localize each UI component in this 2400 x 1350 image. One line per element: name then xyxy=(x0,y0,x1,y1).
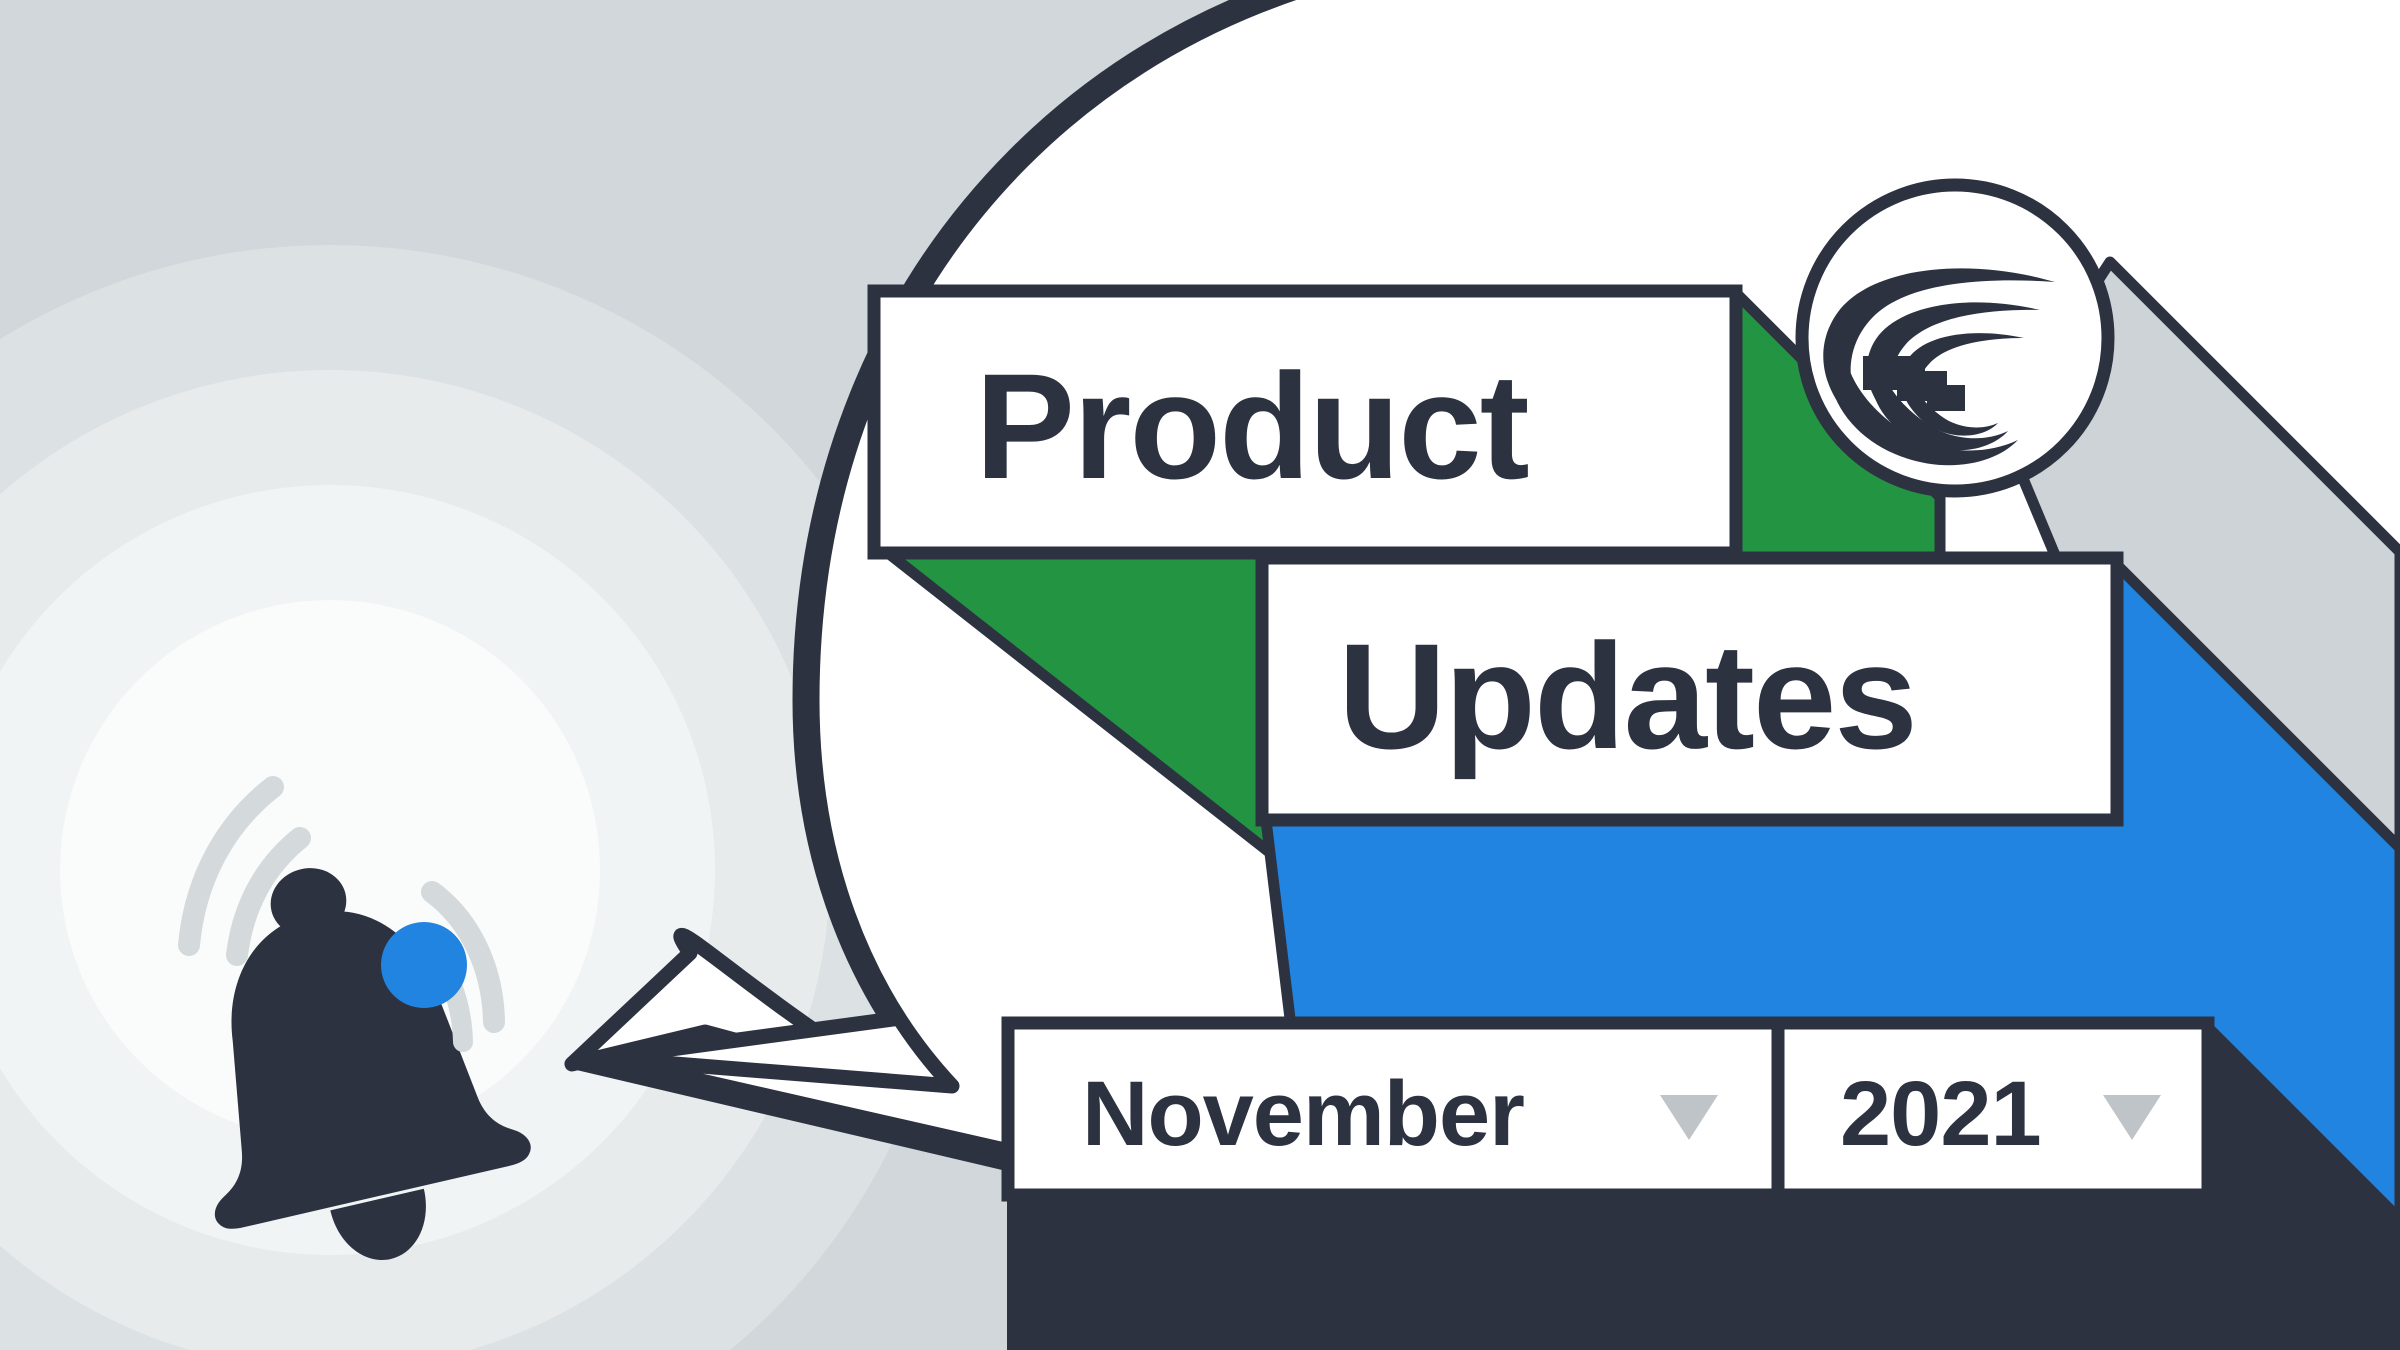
banner-artboard: Product Updates November 2021 xyxy=(0,0,2400,1350)
headline-updates-text: Updates xyxy=(1338,612,1916,780)
headline-product-text: Product xyxy=(975,342,1529,510)
product-updates-banner: Product Updates November 2021 xyxy=(0,0,2400,1350)
month-selector-value: November xyxy=(1082,1063,1524,1165)
year-selector-value: 2021 xyxy=(1840,1063,2041,1165)
notification-dot xyxy=(381,922,467,1008)
